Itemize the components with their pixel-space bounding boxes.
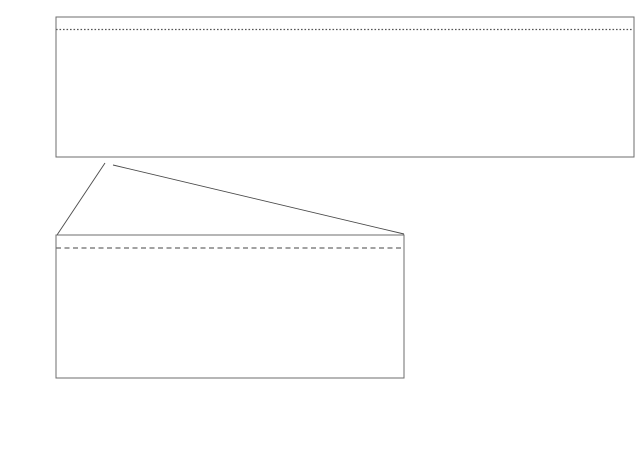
manhattan-plot-genomewide <box>23 17 634 157</box>
zoom-locus-plot <box>22 235 404 378</box>
figure-root <box>0 0 642 473</box>
figure-svg <box>0 0 642 473</box>
zoom-connector-lines <box>57 163 404 235</box>
top-plot-frame <box>56 17 634 157</box>
zoom-plot-background <box>56 235 404 378</box>
connector-left <box>57 163 105 235</box>
connector-right <box>113 165 404 234</box>
